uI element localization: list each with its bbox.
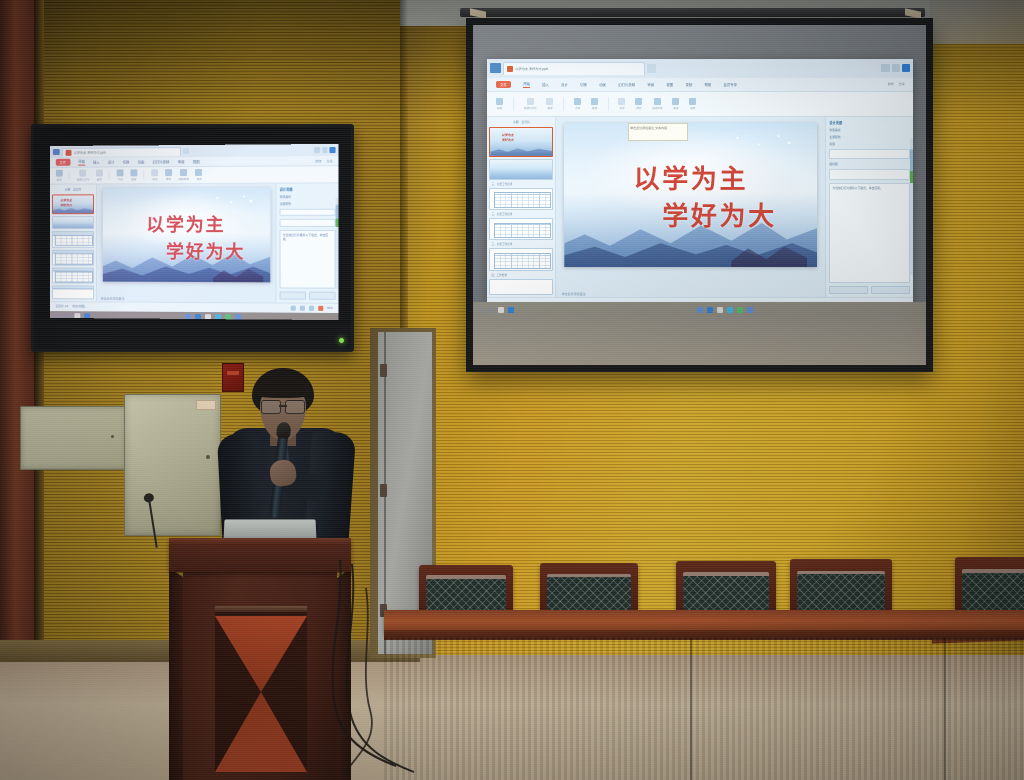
powerpoint-window-tv: 以学为主 学好为大.pptx 文件 开始 插入 设计 切换 动画 幻灯片放映 [50,144,339,320]
conference-chair[interactable] [790,559,892,617]
ribbon-tab-home[interactable]: 开始 [78,159,85,166]
edge-icon[interactable] [508,307,514,313]
new-tab-button[interactable] [647,64,655,73]
task-pane-row-2[interactable]: 主题配色 [280,201,336,205]
conference-chair[interactable] [676,561,776,617]
store-icon[interactable] [747,307,753,313]
task-pane-row-1[interactable]: 智能美化 [280,194,336,198]
slide-thumbnail-1[interactable]: 以学为主 学好为大 [52,194,94,214]
ribbon-tab-design[interactable]: 设计 [108,160,115,165]
wps-icon[interactable] [194,314,200,320]
refresh-button[interactable] [309,291,336,299]
document-tab-label: 以学为主 学好为大.pptx [515,66,548,71]
ribbon-group-paragraph[interactable]: 段落 [591,98,598,110]
subtitle-field-label: 副标题 [829,162,910,166]
scroll-marker [336,219,339,227]
search-icon [195,169,202,176]
thumb-table [55,235,93,246]
door-hinge-icon [380,484,387,497]
thumb-title-l2: 学好为大 [60,203,72,207]
ribbon-tab-record[interactable]: 录制 [685,82,692,87]
chair-upholstery [547,577,631,612]
electrical-cabinet-tall[interactable] [124,394,221,536]
ribbon-tab-design[interactable]: 设计 [561,82,568,87]
paragraph-icon [130,169,137,176]
slide-title-line1: 以学为主 [146,215,225,235]
ribbon-group-shapes[interactable]: 形状 [151,169,158,181]
vertical-scrollbar[interactable] [910,138,913,275]
slide-title-line2: 学好为大 [564,198,817,236]
table-panel-seam [944,638,946,780]
scroll-marker [910,171,913,184]
slide-thumbnail-1[interactable]: 以学为主 学好为大 [489,127,553,157]
ribbon-tab-transitions[interactable]: 切换 [123,159,130,164]
slide-thumbnail-5[interactable] [52,268,94,284]
current-slide[interactable]: 以学为主 学好为大 [103,188,271,283]
title-field[interactable] [829,149,910,160]
ppt-workspace: 大纲 幻灯片 以学为主 学好为大 [50,183,339,303]
ribbon-group-new-slide[interactable]: 新建幻灯片 [524,98,537,110]
minimize-button[interactable] [881,64,889,72]
thumb-title-l2: 学好为大 [502,138,514,142]
arrange-icon [635,98,642,105]
share-button[interactable]: 分享 [327,159,333,163]
ribbon-group-label: 段落 [131,177,136,181]
paste-icon [56,169,63,176]
ribbon-group-label: 快速样式 [652,106,662,110]
notes-placeholder[interactable]: 单击此处添加备注 [562,292,586,296]
search-icon[interactable] [65,313,71,319]
projection-screen-blank-area [473,313,926,365]
lectern-desktop-edge [169,538,351,544]
ribbon-group-label: 选择 [690,106,695,110]
task-pane-row-2[interactable]: 主题配色 [829,135,910,139]
vertical-scrollbar[interactable] [336,197,339,288]
ribbon-group-font[interactable]: 字体 [574,98,581,110]
ribbon-tab-help[interactable]: 帮助 [704,82,711,87]
ribbon-group-styles[interactable]: 快速样式 [178,169,188,181]
slide-thumbnail-rail[interactable]: 大纲 幻灯片 以学为主 学好为大 [487,117,556,297]
chair-upholstery [683,576,769,612]
ribbon-group-label: 粘贴 [497,106,502,110]
thumb-table [494,223,550,238]
wechat-icon[interactable] [225,314,231,320]
apply-button[interactable] [280,291,306,299]
ribbon-group-label: 形状 [619,106,624,110]
wall-mounted-tv[interactable]: 以学为主 学好为大.pptx 文件 开始 插入 设计 切换 动画 幻灯片放映 [31,124,354,352]
power-led-icon [339,338,344,343]
ppt-file-icon [507,66,513,72]
ribbon-group-arrange[interactable]: 排列 [635,98,642,110]
chair-upholstery [797,574,885,611]
ribbon-group-select[interactable]: 选择 [689,98,696,110]
ribbon-toolbar: 粘贴 新建幻灯片 版式 字体 [487,92,913,117]
collaborate-button[interactable]: 协作 [315,159,321,163]
ppt-workspace: 大纲 幻灯片 以学为主 学好为大 [487,117,913,297]
close-button[interactable] [330,147,336,153]
ribbon-divider [69,171,70,180]
projection-surface: 以学为主 学好为大.pptx 文件 开始 插入 设计 切换 动画 幻灯片放映 [473,25,926,365]
chat-icon[interactable] [697,307,703,313]
ribbon-tab-animations[interactable]: 动画 [599,82,606,87]
notes-placeholder[interactable]: 单击此处添加备注 [101,297,125,301]
design-task-pane[interactable]: 设计灵感 智能美化 主题配色 为当前幻灯片推荐以下版式，单击应用。 [276,183,339,303]
ribbon-group-label: 形状 [152,177,157,181]
new-slide-icon [79,169,86,176]
wechat-icon[interactable] [737,307,743,313]
chat-icon[interactable] [185,314,191,320]
ribbon-group-label: 字体 [118,177,123,181]
search-icon[interactable] [488,307,494,313]
quick-styles-icon [654,98,661,105]
title-field[interactable] [280,208,336,216]
refresh-button[interactable] [871,286,910,294]
thumb-table [55,253,93,264]
mic-capsule-icon [276,422,292,439]
slide-title-line2: 学好为大 [103,238,271,264]
chair-upholstery [962,573,1024,611]
explorer-icon[interactable] [74,313,80,319]
projection-screen[interactable]: 以学为主 学好为大.pptx 文件 开始 插入 设计 切换 动画 幻灯片放映 [466,18,933,372]
corner-column [0,0,34,690]
electrical-cabinet-flat[interactable] [20,406,127,470]
ribbon-divider [513,97,514,111]
ribbon-tab-insert[interactable]: 插入 [93,160,100,165]
ppt-file-icon [66,149,72,155]
ribbon-tab-transitions[interactable]: 切换 [580,82,587,87]
rail-header: 大纲 幻灯片 [52,186,94,192]
tv-bezel-bottom [34,323,351,349]
new-slide-icon [527,98,534,105]
cabinet-latch-icon [111,435,114,438]
ribbon-group-paste[interactable]: 粘贴 [496,98,503,110]
design-task-pane[interactable]: 设计灵感 智能美化 主题配色 标题 副标题 为当前幻灯片推荐以下版式，单击应用。 [825,117,913,297]
ribbon-tab-animations[interactable]: 动画 [138,159,145,164]
ribbon-tab-view[interactable]: 视图 [666,82,673,87]
slide-title[interactable]: 以学为主 学好为大 [564,161,817,236]
slide-thumbnail-2[interactable] [52,216,94,229]
current-slide[interactable]: 单击此处添加备注 文本内容 以学为主 学好为大 [564,123,817,267]
ribbon-group-label: 快速样式 [178,177,188,181]
explorer-icon[interactable] [498,307,504,313]
ribbon-divider [563,97,564,111]
ribbon-tab-member[interactable]: 会员专享 [724,82,738,87]
thumb-caption-4: 三、主要工作安排 [489,212,553,216]
powerpoint-window-projected[interactable]: 以学为主 学好为大.pptx 文件 开始 插入 设计 切换 动画 幻灯片放映 [487,59,913,324]
thumb-bg [53,217,93,228]
slide-stars [213,193,257,206]
ribbon-group-layout[interactable]: 版式 [546,98,553,110]
store-icon[interactable] [235,314,241,320]
normal-view-icon[interactable] [290,305,295,310]
document-tab[interactable]: 以学为主 学好为大.pptx [62,147,182,157]
quick-styles-icon [180,169,187,176]
ribbon-group-shapes[interactable]: 形状 [618,98,625,110]
shapes-icon [151,169,158,176]
ribbon-group-label: 查找 [196,177,201,181]
ribbon-group-paragraph[interactable]: 段落 [130,169,137,181]
ribbon-tab-slideshow[interactable]: 幻灯片放映 [153,159,170,164]
ribbon-group-label: 新建幻灯片 [524,106,537,110]
app-logo-icon [490,63,500,73]
font-icon [117,169,124,176]
slide-title-line1: 以学为主 [634,164,748,194]
ribbon-group-label: 查找 [673,106,678,110]
slide-thumbnail-6[interactable] [52,286,94,300]
file-menu-button[interactable]: 文件 [56,159,70,166]
outline-tab[interactable]: 大纲 [65,187,70,191]
thumb-title-l1: 以学为主 [60,199,72,203]
ribbon-group-layout[interactable]: 版式 [96,169,103,181]
slide-thumbnail-6[interactable] [489,279,553,295]
task-pane-buttons [280,291,336,299]
task-pane-body: 为当前幻灯片推荐以下版式，单击应用。 [829,183,910,283]
slide-thumbnail-rail[interactable]: 大纲 幻灯片 以学为主 学好为大 [50,184,97,301]
file-menu-button[interactable]: 文件 [496,81,511,88]
chair-upholstery [426,579,507,612]
ribbon-group-label: 段落 [592,106,597,110]
start-icon[interactable] [478,307,484,313]
slide-stars [731,132,797,152]
thumb-bg [490,160,552,179]
slide-indicator: 幻灯片 1/6 [56,304,69,308]
thumb-caption-6: 四、工作要求 [489,273,553,277]
slide-thumbnail-4[interactable] [489,218,553,240]
ribbon-tab-review[interactable]: 审阅 [178,159,185,164]
ribbon-group-label: 排列 [166,177,171,181]
share-button[interactable]: 分享 [899,82,905,86]
conference-table[interactable] [384,610,1024,780]
ribbon-toolbar: 粘贴 新建幻灯片 版式 字体 [50,166,339,184]
task-pane-title: 设计灵感 [280,186,336,191]
layout-icon [546,98,553,105]
reading-view-icon[interactable] [309,305,314,310]
subtitle-field[interactable] [280,219,336,227]
slide-thumbnail-3[interactable] [52,231,94,247]
screen-housing [460,8,925,17]
sorter-view-icon[interactable] [299,305,304,310]
shapes-icon [618,98,625,105]
slideshow-icon[interactable] [318,305,323,310]
ribbon-group-label: 新建幻灯片 [76,177,89,181]
search-icon [672,98,679,105]
ribbon-tab-review[interactable]: 审阅 [647,82,654,87]
ribbon-group-label: 排列 [636,106,641,110]
task-pane-body: 为当前幻灯片推荐以下版式，单击应用。 [280,230,336,289]
maximize-button[interactable] [892,64,900,72]
ribbon-group-new-slide[interactable]: 新建幻灯片 [76,169,89,181]
conference-chair[interactable] [955,557,1024,617]
mail-icon[interactable] [204,314,210,320]
ppt-titlebar: 以学为主 学好为大.pptx [487,59,913,78]
minimize-button[interactable] [314,147,320,153]
ribbon-group-paste[interactable]: 粘贴 [56,169,63,181]
new-tab-button[interactable] [183,148,189,154]
task-pane-buttons [829,286,910,294]
paragraph-icon [591,98,598,105]
start-icon[interactable] [55,313,61,319]
task-pane-row-1[interactable]: 智能美化 [829,128,910,132]
rail-header: 大纲 幻灯片 [489,119,553,125]
slides-tab[interactable]: 幻灯片 [73,187,81,191]
wps-icon[interactable] [707,307,713,313]
ribbon-divider [109,170,110,179]
layout-icon [96,169,103,176]
ribbon-group-label: 粘贴 [56,177,61,181]
outline-tab[interactable]: 大纲 [513,120,519,124]
thumb-caption-bar [53,287,93,290]
table-panel-seam [690,638,692,780]
thumb-title: 以学为主 学好为大 [502,133,514,142]
door-hinge-icon [380,364,387,377]
close-button[interactable] [902,64,910,72]
ribbon-group-font[interactable]: 字体 [117,169,124,181]
arrange-icon [165,169,172,176]
select-icon [689,98,696,105]
ribbon-tab-insert[interactable]: 插入 [542,82,549,87]
slide-thumbnail-4[interactable] [52,249,94,265]
paste-icon [496,98,503,105]
ribbon-group-find[interactable]: 查找 [195,169,202,181]
ribbon-tab-slideshow[interactable]: 幻灯片放映 [618,82,635,87]
slide-thumbnail-5[interactable] [489,248,553,270]
slides-tab[interactable]: 幻灯片 [522,120,530,124]
thumb-title-l1: 以学为主 [502,133,514,137]
maximize-button[interactable] [322,147,328,153]
thumb-table [494,192,550,207]
document-tab[interactable]: 以学为主 学好为大.pptx [503,62,645,75]
slide-thumbnail-2[interactable] [489,159,553,180]
edge-icon[interactable] [84,313,90,319]
app-logo-icon [53,149,60,156]
font-icon [574,98,581,105]
folder-icon[interactable] [215,314,221,320]
ribbon-divider [608,97,609,111]
slide-stage[interactable]: 单击此处添加备注 文本内容 以学为主 学好为大 单击此处添加备注 [556,117,825,297]
ribbon-group-styles[interactable]: 快速样式 [652,98,662,110]
document-tab-label: 以学为主 学好为大.pptx [73,150,106,155]
ribbon-group-label: 版式 [97,177,102,181]
mail-icon[interactable] [717,307,723,313]
ribbon-tab-strip: 文件 开始 插入 设计 切换 动画 幻灯片放映 审阅 视图 录制 帮助 会员专享… [487,78,913,92]
slide-thumbnail-3[interactable] [489,188,553,210]
ribbon-divider [144,170,145,179]
task-pane-title: 设计灵感 [829,120,910,125]
subtitle-field[interactable] [829,169,910,180]
glasses-icon [261,400,305,412]
thumb-caption-3: 三、主要工作安排 [489,182,553,186]
thumb-title: 以学为主 学好为大 [60,199,72,208]
slide-note-callout[interactable]: 单击此处添加备注 文本内容 [628,123,689,141]
language-indicator[interactable]: 中文(中国) [72,304,85,308]
ribbon-group-label: 字体 [575,106,580,110]
ribbon-group-arrange[interactable]: 排列 [165,169,172,181]
folder-icon[interactable] [727,307,733,313]
table-modesty-panel [384,638,1024,780]
conference-room-scene: 以学为主 学好为大.pptx 文件 开始 插入 设计 切换 动画 幻灯片放映 [0,0,1024,780]
thumb-caption-5: 三、主要工作安排 [489,242,553,246]
title-field-label: 标题 [829,142,910,146]
slide-stage[interactable]: 以学为主 学好为大 单击此处添加备注 [97,183,275,302]
windows-taskbar[interactable] [50,311,339,321]
lectern-panel-trim [215,606,307,612]
ribbon-tab-home[interactable]: 开始 [523,81,530,88]
collaborate-button[interactable]: 协作 [888,82,894,86]
ribbon-group-find[interactable]: 查找 [672,98,679,110]
apply-button[interactable] [829,286,868,294]
slide-title[interactable]: 以学为主 学好为大 [103,212,271,265]
tv-screen: 以学为主 学好为大.pptx 文件 开始 插入 设计 切换 动画 幻灯片放映 [50,144,339,320]
thumb-table [494,253,550,268]
conference-chair[interactable] [540,563,638,617]
ribbon-tab-view[interactable]: 视图 [193,159,200,164]
ribbon-group-label: 版式 [547,106,552,110]
thumb-table [55,271,93,283]
zoom-level[interactable]: 66% [327,306,333,310]
